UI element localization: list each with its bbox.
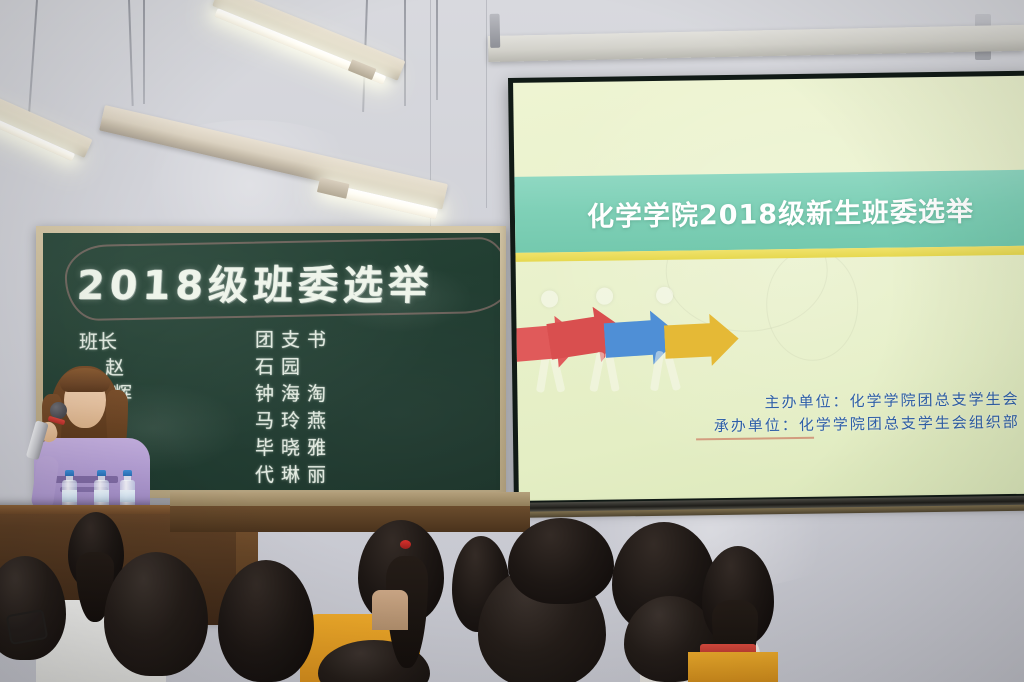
projected-slide: 化学学院2018级新生班委选举: [513, 76, 1024, 501]
figure-leg: [589, 351, 605, 392]
right-column-header: 团支书: [255, 329, 333, 352]
slide-title-banner: 化学学院2018级新生班委选举: [514, 170, 1024, 253]
wall-seam: [486, 0, 487, 208]
hair-tie: [400, 540, 411, 549]
front-desk-body: [170, 506, 530, 532]
slide-watermark: [765, 248, 859, 361]
light-hanger-rod: [436, 0, 438, 100]
figure-leg: [650, 351, 664, 392]
slide-graphic-figures: [526, 288, 718, 401]
light-hanger-rod: [404, 0, 406, 106]
screen-mount-bracket: [490, 14, 501, 48]
figure-head: [541, 290, 558, 307]
slide-credits: 主办单位：化学学院团总支学生会 承办单位：化学学院团总支学生会组织部: [713, 388, 1020, 438]
photo-scene: 2018级班委选举 班长 赵 辉 团支书 石园 钟海淘 马玲燕 毕晓雅 代琳丽: [0, 0, 1024, 682]
light-hanger-rod: [143, 0, 145, 104]
projection-screen: 化学学院2018级新生班委选举: [508, 71, 1024, 506]
credit-underline: [696, 437, 814, 441]
audience-neck: [372, 590, 408, 630]
right-column-entry: 毕晓雅: [255, 437, 333, 460]
right-column-entry: 代琳丽: [255, 464, 333, 487]
right-column-entry: 马玲燕: [255, 410, 333, 433]
audience-head: [508, 518, 614, 604]
right-column-entry: 石园: [255, 356, 333, 379]
right-column-entry: 钟海淘: [255, 383, 333, 406]
figure-head: [596, 288, 613, 305]
slide-title: 化学学院2018级新生班委选举: [515, 189, 975, 234]
blackboard-right-column: 团支书 石园 钟海淘 马玲燕 毕晓雅 代琳丽: [255, 329, 333, 490]
slide-credit-line: 承办单位：化学学院团总支学生会组织部: [714, 411, 1020, 438]
bottle-label: [62, 490, 77, 502]
bottle-label: [94, 490, 109, 502]
audience-shirt-yellow: [688, 652, 778, 682]
left-column-header: 班长: [79, 331, 132, 354]
figure-head: [656, 287, 673, 304]
blackboard-heading: 2018级班委选举: [75, 253, 434, 311]
bottle-label: [120, 490, 135, 502]
speaker-hair-top: [60, 368, 110, 392]
